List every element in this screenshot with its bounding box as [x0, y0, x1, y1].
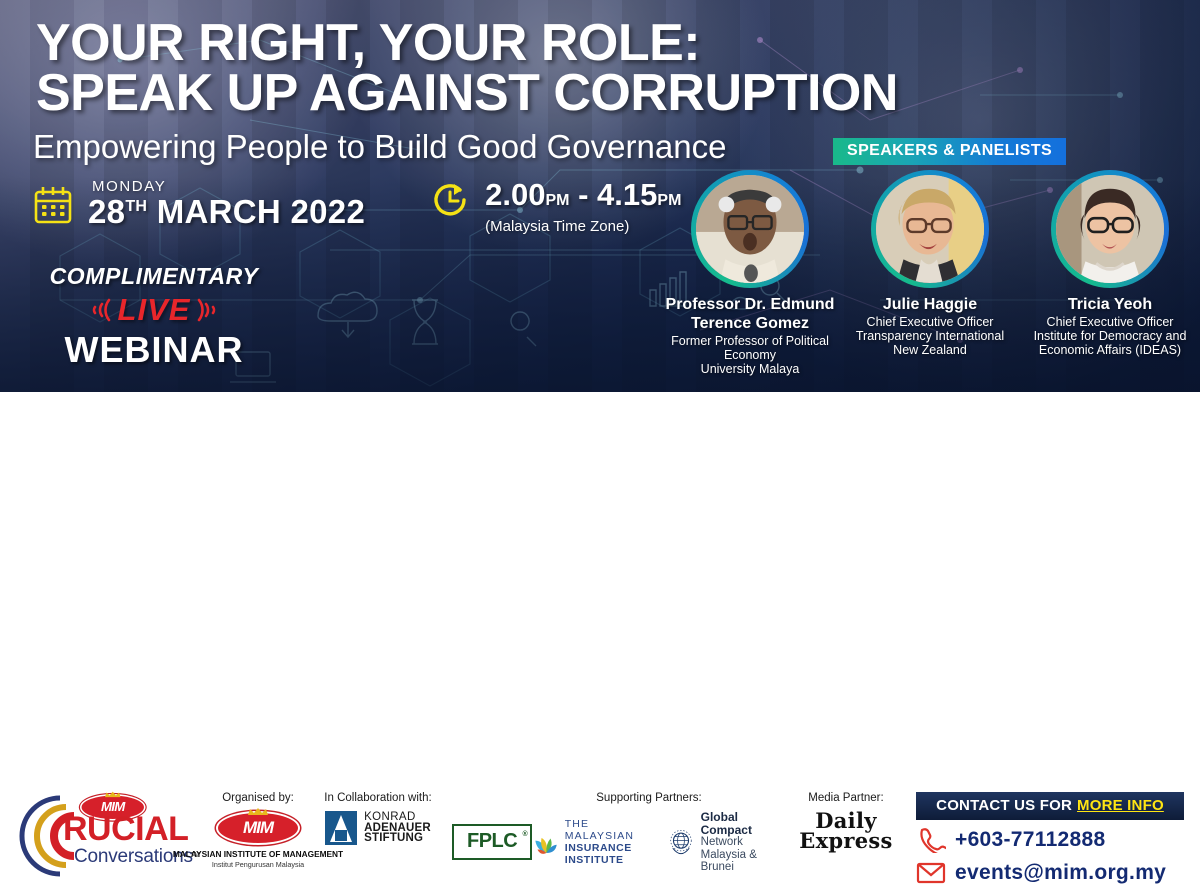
- fplc-text: FPLC: [467, 830, 517, 852]
- speaker-role-1: Chief Executive Officer: [840, 315, 1020, 329]
- speaker-photo-tricia-yeoh: [1056, 175, 1164, 283]
- crown-icon: [247, 807, 269, 816]
- webinar-banner: YOUR RIGHT, YOUR ROLE: SPEAK UP AGAINST …: [0, 0, 1200, 497]
- envelope-icon: [916, 860, 946, 886]
- contact-bar-label: CONTACT US FOR: [936, 797, 1072, 814]
- mim-logo: MIM: [216, 811, 300, 845]
- speaker-role-3: Economic Affairs (IDEAS): [1020, 343, 1200, 357]
- speaker-role-1: Chief Executive Officer: [1020, 315, 1200, 329]
- media-partner-caption: Media Partner:: [808, 792, 883, 804]
- crown-icon: [104, 791, 121, 798]
- speaker-name: Professor Dr. Edmund: [660, 296, 840, 313]
- event-time-group: 2.00PM - 4.15PM (Malaysia Time Zone): [427, 178, 681, 235]
- contact-email-address[interactable]: events@mim.org.my: [955, 861, 1166, 885]
- event-timezone-note: (Malaysia Time Zone): [485, 218, 681, 235]
- broadcast-right-icon: [195, 295, 221, 325]
- kas-line-2: ADENAUER: [364, 823, 431, 834]
- speaker-card: Professor Dr. Edmund Terence Gomez Forme…: [660, 170, 840, 376]
- event-date-day: 28: [88, 193, 125, 230]
- footer-partner-bar: MIM RUCIAL Conversations TM Organised by…: [0, 392, 1200, 497]
- kas-wordmark: KONRAD ADENAUER STIFTUNG: [364, 812, 431, 844]
- mii-line-1: THE MALAYSIAN: [565, 818, 654, 842]
- gcn-wordmark: Global Compact Network Malaysia & Brunei: [701, 811, 764, 874]
- event-date: 28TH MARCH 2022: [88, 193, 365, 231]
- speaker-role-1: Former Professor of Political Economy: [660, 334, 840, 362]
- event-time: 2.00PM - 4.15PM: [485, 178, 681, 218]
- malaysian-insurance-institute-logo: THE MALAYSIAN INSURANCE INSTITUTE: [534, 818, 654, 866]
- organised-by-caption: Organised by:: [222, 792, 294, 804]
- speaker-photo-julie-haggie: [876, 175, 984, 283]
- mim-oval: MIM: [216, 811, 300, 845]
- time-start-ampm: PM: [545, 192, 569, 209]
- mim-full-name: MALAYSIAN INSTITUTE OF MANAGEMENT: [173, 849, 343, 859]
- gcn-line-2: Network: [701, 836, 764, 849]
- supporting-logos-row: THE MALAYSIAN INSURANCE INSTITUTE Global…: [534, 811, 764, 874]
- promo-complimentary: COMPLIMENTARY: [34, 263, 274, 290]
- kas-line-3: STIFTUNG: [364, 833, 431, 844]
- promo-live-label: LIVE: [118, 292, 191, 328]
- speaker-name: Julie Haggie: [840, 296, 1020, 313]
- fplc-group: FPLC®: [452, 824, 532, 860]
- fplc-logo: FPLC®: [452, 824, 532, 860]
- speaker-role-2: University Malaya: [660, 362, 840, 376]
- speaker-role-3: New Zealand: [840, 343, 1020, 357]
- hero-title: YOUR RIGHT, YOUR ROLE: SPEAK UP AGAINST …: [36, 18, 898, 118]
- mii-line-2: INSURANCE INSTITUTE: [565, 842, 654, 866]
- organised-by-group: Organised by: MIM MALAYSIAN INSTITUTE OF…: [196, 792, 320, 869]
- calendar-icon: [30, 182, 76, 228]
- collaboration-caption: In Collaboration with:: [324, 792, 431, 804]
- speaker-card: Tricia Yeoh Chief Executive Officer Inst…: [1020, 170, 1200, 376]
- time-dash: -: [578, 177, 588, 212]
- speakers-row: Professor Dr. Edmund Terence Gomez Forme…: [660, 170, 1200, 376]
- speaker-avatar-ring: [1051, 170, 1169, 288]
- hero-background: YOUR RIGHT, YOUR ROLE: SPEAK UP AGAINST …: [0, 0, 1200, 392]
- fplc-registered-mark: ®: [523, 831, 528, 838]
- daily-express-logo: Daily Express: [799, 811, 892, 851]
- hero-subtitle: Empowering People to Build Good Governan…: [33, 128, 726, 166]
- konrad-adenauer-stiftung-logo: KONRAD ADENAUER STIFTUNG: [325, 811, 431, 845]
- event-datetime: MONDAY 28TH MARCH 2022 2.00PM - 4.15PM (…: [30, 178, 681, 235]
- speaker-name-2: Terence Gomez: [660, 315, 840, 332]
- promo-live-row: LIVE: [34, 292, 274, 328]
- promo-webinar-label: WEBINAR: [34, 329, 274, 371]
- contact-email-row[interactable]: events@mim.org.my: [916, 860, 1184, 886]
- title-line-1: YOUR RIGHT, YOUR ROLE:: [36, 18, 898, 68]
- kas-line-1: KONRAD: [364, 812, 431, 823]
- daily-express-line-1: Daily: [799, 811, 892, 831]
- globe-wreath-icon: [668, 823, 694, 861]
- speaker-photo-edmund-terence-gomez: [696, 175, 804, 283]
- title-line-2: SPEAK UP AGAINST CORRUPTION: [36, 68, 898, 118]
- contact-header-bar: CONTACT US FORMORE INFO: [916, 792, 1184, 820]
- time-end: 4.15: [597, 177, 657, 212]
- broadcast-left-icon: [87, 295, 113, 325]
- global-compact-network-logo: Global Compact Network Malaysia & Brunei: [668, 811, 764, 874]
- promo-block: COMPLIMENTARY LIVE: [34, 263, 274, 371]
- clock-icon: [427, 178, 473, 224]
- collaboration-group: In Collaboration with: KONRAD ADENAUER S…: [318, 792, 438, 845]
- supporting-partners-group: Supporting Partners: THE MALAYSIAN INSUR…: [534, 792, 764, 874]
- media-partner-group: Media Partner: Daily Express: [786, 792, 906, 851]
- daily-express-line-2: Express: [799, 831, 892, 851]
- gcn-line-3: Malaysia & Brunei: [701, 849, 764, 874]
- event-date-group: MONDAY 28TH MARCH 2022: [30, 178, 365, 231]
- mii-wordmark: THE MALAYSIAN INSURANCE INSTITUTE: [565, 818, 654, 866]
- contact-phone-row[interactable]: +603-77112888: [916, 827, 1184, 853]
- mim-malay-name: Institut Pengurusan Malaysia: [212, 860, 304, 869]
- speakers-badge: SPEAKERS & PANELISTS: [833, 138, 1066, 165]
- speaker-role-2: Transparency International: [840, 329, 1020, 343]
- speaker-card: Julie Haggie Chief Executive Officer Tra…: [840, 170, 1020, 376]
- crucial-word: RUCIAL: [63, 812, 188, 846]
- mim-logo-text: MIM: [243, 818, 273, 838]
- speaker-role-2: Institute for Democracy and: [1020, 329, 1200, 343]
- mii-leaf-icon: [534, 824, 559, 860]
- phone-icon: [916, 827, 946, 853]
- supporting-partners-caption: Supporting Partners:: [596, 792, 701, 804]
- kas-mark-icon: [325, 811, 357, 845]
- contact-bar-highlight[interactable]: MORE INFO: [1077, 797, 1164, 814]
- crucial-conversations-logo: MIM RUCIAL Conversations TM: [8, 790, 198, 882]
- event-date-rest: MARCH 2022: [147, 193, 365, 230]
- gcn-line-1: Global Compact: [701, 811, 764, 836]
- speaker-avatar-ring: [691, 170, 809, 288]
- contact-phone-number[interactable]: +603-77112888: [955, 828, 1105, 852]
- contact-block: CONTACT US FORMORE INFO +603-77112888 ev…: [916, 792, 1184, 886]
- time-start: 2.00: [485, 177, 545, 212]
- speaker-avatar-ring: [871, 170, 989, 288]
- event-date-ordinal: TH: [125, 198, 147, 215]
- speaker-name: Tricia Yeoh: [1020, 296, 1200, 313]
